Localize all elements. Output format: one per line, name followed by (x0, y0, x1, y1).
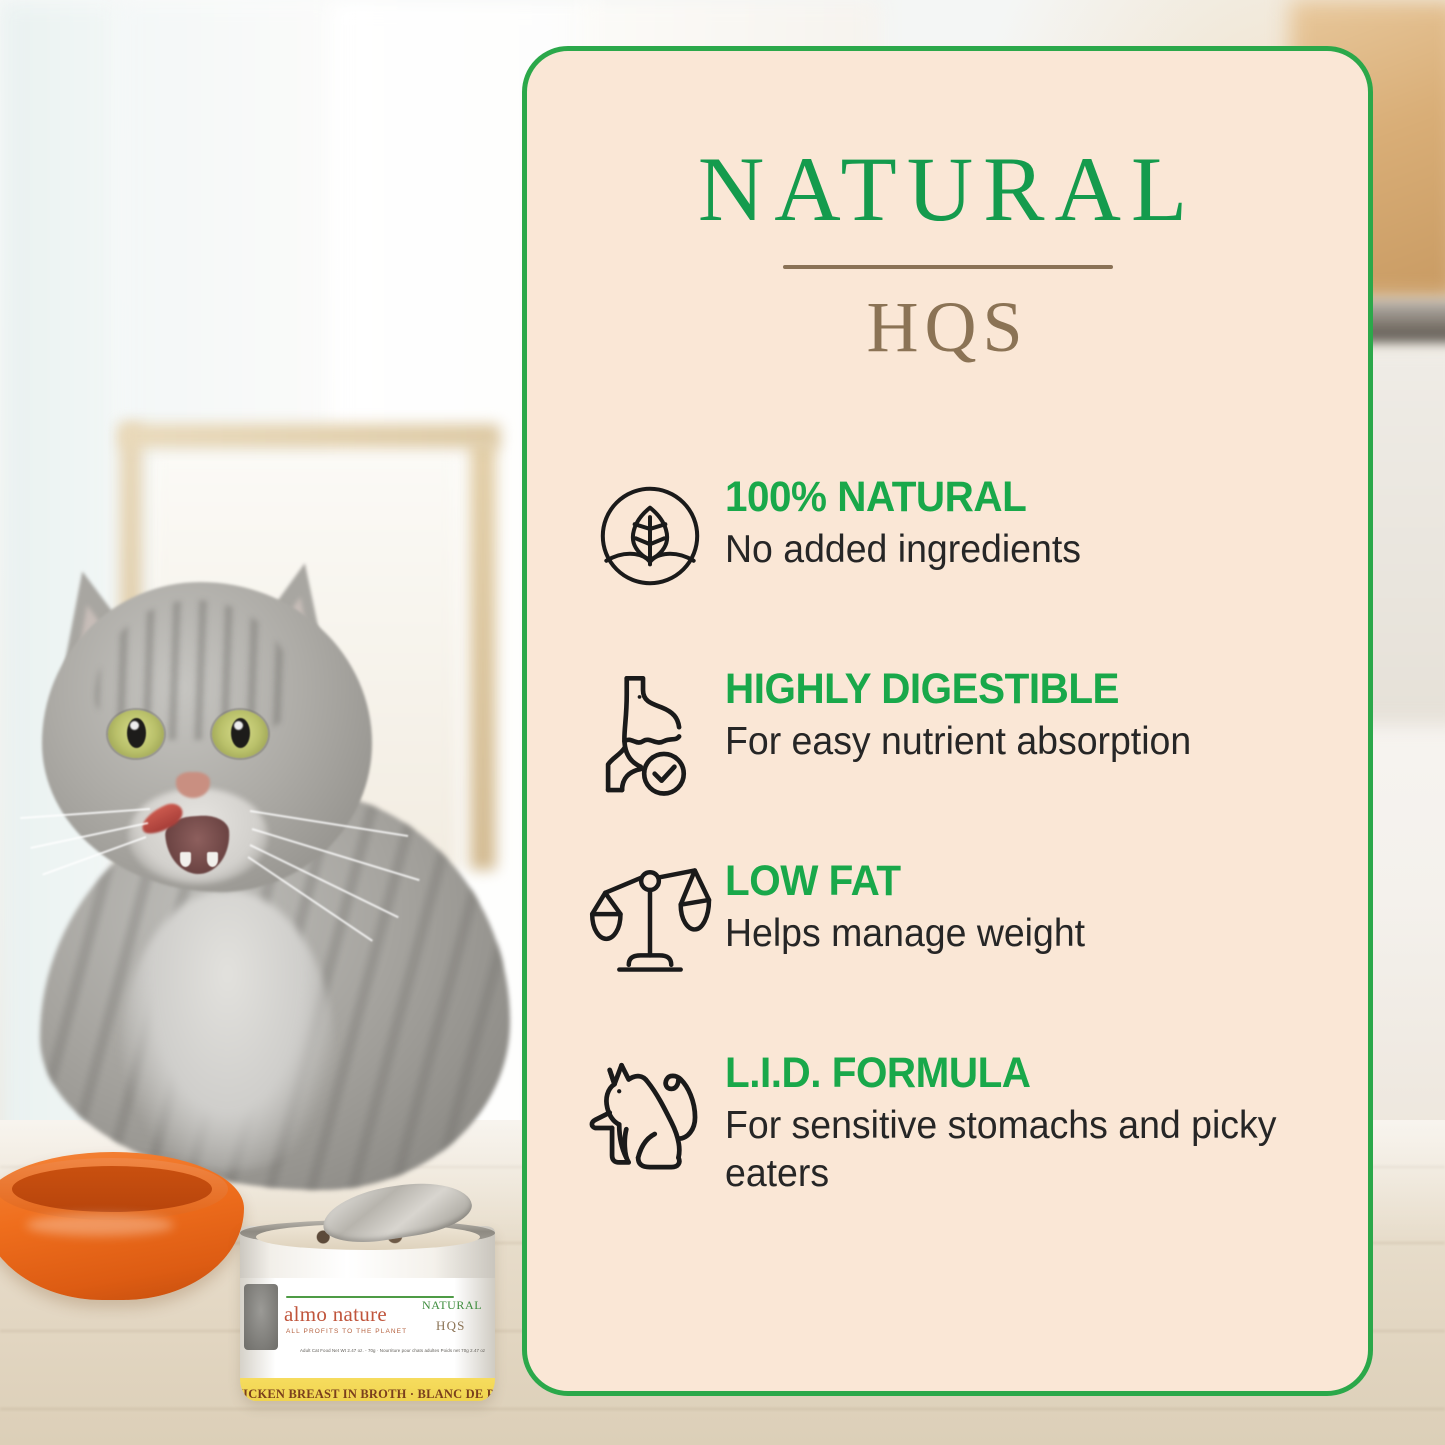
benefit-title: L.I.D. FORMULA (725, 1051, 1297, 1096)
benefit-description: No added ingredients (725, 526, 1310, 574)
brand-subtitle: HQS (527, 291, 1368, 363)
can-label-cat-photo (244, 1284, 278, 1350)
brand-divider (783, 265, 1113, 269)
product-marketing-image: almo nature ALL PROFITS TO THE PLANET NA… (0, 0, 1445, 1445)
sitting-cat-icon (575, 1047, 725, 1177)
benefit-description: For easy nutrient absorption (725, 718, 1310, 766)
benefit-description: Helps manage weight (725, 910, 1310, 958)
stomach-check-icon (575, 663, 725, 797)
benefit-item: 100% NATURAL No added ingredients (575, 471, 1334, 621)
can-variant-band: CHICKEN BREAST IN BROTH · BLANC DE POULE… (240, 1378, 495, 1401)
benefit-item: HIGHLY DIGESTIBLE For easy nutrient abso… (575, 663, 1334, 813)
cat-photo-subject (0, 560, 540, 1200)
brand-lockup: NATURAL HQS (527, 143, 1368, 363)
benefit-description: For sensitive stomachs and picky eaters (725, 1102, 1310, 1197)
can-variant-name: CHICKEN BREAST IN BROTH · BLANC DE POULE… (240, 1387, 495, 1401)
can-line-name: NATURAL (422, 1298, 482, 1313)
benefits-card: NATURAL HQS (522, 46, 1373, 1396)
can-line-sub: HQS (436, 1318, 466, 1334)
benefits-list: 100% NATURAL No added ingredients (575, 471, 1334, 1239)
balance-scale-icon (575, 855, 725, 979)
benefit-item: LOW FAT Helps manage weight (575, 855, 1334, 1005)
orange-cat-bowl (0, 1152, 244, 1300)
leaf-in-circle-icon (575, 471, 725, 595)
can-label: almo nature ALL PROFITS TO THE PLANET NA… (240, 1278, 495, 1382)
can-brand-name: almo nature (284, 1304, 414, 1325)
can-brand-tagline: ALL PROFITS TO THE PLANET (286, 1328, 414, 1335)
benefit-title: LOW FAT (725, 859, 1297, 904)
window-frame-top (120, 424, 500, 448)
benefit-item: L.I.D. FORMULA For sensitive stomachs an… (575, 1047, 1334, 1197)
product-can: almo nature ALL PROFITS TO THE PLANET NA… (240, 1186, 495, 1401)
can-fineprint: Adult Cat Food Net Wt 2.47 oz. - 70g · N… (300, 1348, 450, 1353)
benefit-title: HIGHLY DIGESTIBLE (725, 667, 1297, 712)
benefit-title: 100% NATURAL (725, 475, 1297, 520)
brand-title: NATURAL (527, 143, 1368, 235)
